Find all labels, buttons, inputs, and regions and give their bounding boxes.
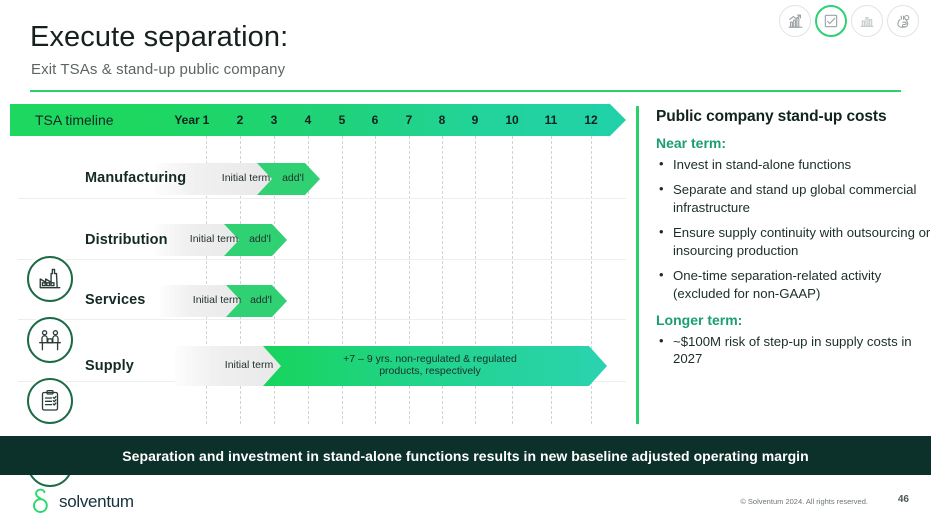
bar-initial-term-label: Initial term	[188, 294, 246, 306]
timeline-tick-4: 4	[298, 113, 318, 127]
row-label-distribution: Distribution	[85, 232, 168, 248]
copyright-text: © Solventum 2024. All rights reserved.	[740, 497, 868, 506]
near-term-list: Invest in stand-alone functions Separate…	[656, 156, 931, 302]
timeline-tick-3: 3	[264, 113, 284, 127]
list-item: ~$100M risk of step-up in supply costs i…	[656, 333, 931, 368]
bar-supply-detail-label: +7 – 9 yrs. non-regulated & regulatedpro…	[305, 353, 555, 377]
timeline-bar-services: Initial term add'l	[160, 285, 287, 317]
title-divider-rule	[30, 90, 901, 92]
clipboard-checklist-icon	[27, 378, 73, 424]
timeline-tick-1: 1	[196, 113, 216, 127]
right-panel-title: Public company stand-up costs	[656, 108, 931, 126]
timeline-tick-9: 9	[465, 113, 485, 127]
page-title: Execute separation:	[30, 22, 288, 54]
near-term-heading: Near term:	[656, 135, 931, 151]
bar-initial-term-label: Initial term	[185, 233, 243, 245]
list-item: One-time separation-related activity (ex…	[656, 267, 931, 302]
timeline-tick-10: 10	[502, 113, 522, 127]
list-item: Separate and stand up global commercial …	[656, 181, 931, 216]
bar-addl-label: add'l	[244, 233, 276, 245]
bar-addl-label: add'l	[245, 294, 277, 306]
bar-initial-term-label: Initial term	[217, 172, 275, 184]
timeline-title: TSA timeline	[35, 112, 114, 128]
row-separator-1	[18, 198, 626, 199]
timeline-tick-12: 12	[581, 113, 601, 127]
list-item: Invest in stand-alone functions	[656, 156, 931, 173]
panel-divider	[636, 106, 639, 424]
timeline-header-arrow	[610, 104, 626, 136]
timeline-bar-supply: Initial term +7 – 9 yrs. non-regulated &…	[175, 346, 607, 386]
list-item: Ensure supply continuity with outsourcin…	[656, 224, 931, 259]
timeline-tick-5: 5	[332, 113, 352, 127]
brand-logo-text: solventum	[59, 492, 134, 512]
summary-banner: Separation and investment in stand-alone…	[0, 436, 931, 475]
checkbox-icon[interactable]	[815, 5, 847, 37]
row-label-supply: Supply	[85, 358, 134, 374]
public-company-costs-panel: Public company stand-up costs Near term:…	[656, 108, 931, 376]
slide: Execute separation: Exit TSAs & stand-up…	[0, 0, 931, 521]
timeline-tick-6: 6	[365, 113, 385, 127]
row-label-services: Services	[85, 292, 145, 308]
timeline-tick-11: 11	[541, 113, 561, 127]
row-label-manufacturing: Manufacturing	[85, 170, 186, 186]
brand-logo: solventum	[30, 487, 134, 517]
growth-chart-icon[interactable]	[779, 5, 811, 37]
page-subtitle: Exit TSAs & stand-up public company	[31, 61, 285, 78]
section-nav-chips[interactable]	[779, 5, 919, 37]
timeline-bar-distribution: Initial term add'l	[155, 224, 287, 256]
factory-icon	[27, 256, 73, 302]
tsa-timeline-panel: TSA timeline Year 1 2 3 4 5 6 7 8 9 10 1…	[10, 104, 626, 424]
timeline-tick-2: 2	[230, 113, 250, 127]
longer-term-heading: Longer term:	[656, 312, 931, 328]
bar-initial-term-label: Initial term	[219, 359, 279, 371]
bar-chart-icon[interactable]	[851, 5, 883, 37]
solventum-s-icon	[30, 487, 52, 517]
money-gear-icon[interactable]	[887, 5, 919, 37]
meeting-table-icon	[27, 317, 73, 363]
timeline-tick-8: 8	[432, 113, 452, 127]
page-number: 46	[898, 494, 909, 505]
summary-banner-text: Separation and investment in stand-alone…	[122, 448, 808, 464]
timeline-tick-7: 7	[399, 113, 419, 127]
row-separator-3	[18, 319, 626, 320]
longer-term-list: ~$100M risk of step-up in supply costs i…	[656, 333, 931, 368]
row-separator-2	[18, 259, 626, 260]
bar-addl-label: add'l	[277, 172, 309, 184]
